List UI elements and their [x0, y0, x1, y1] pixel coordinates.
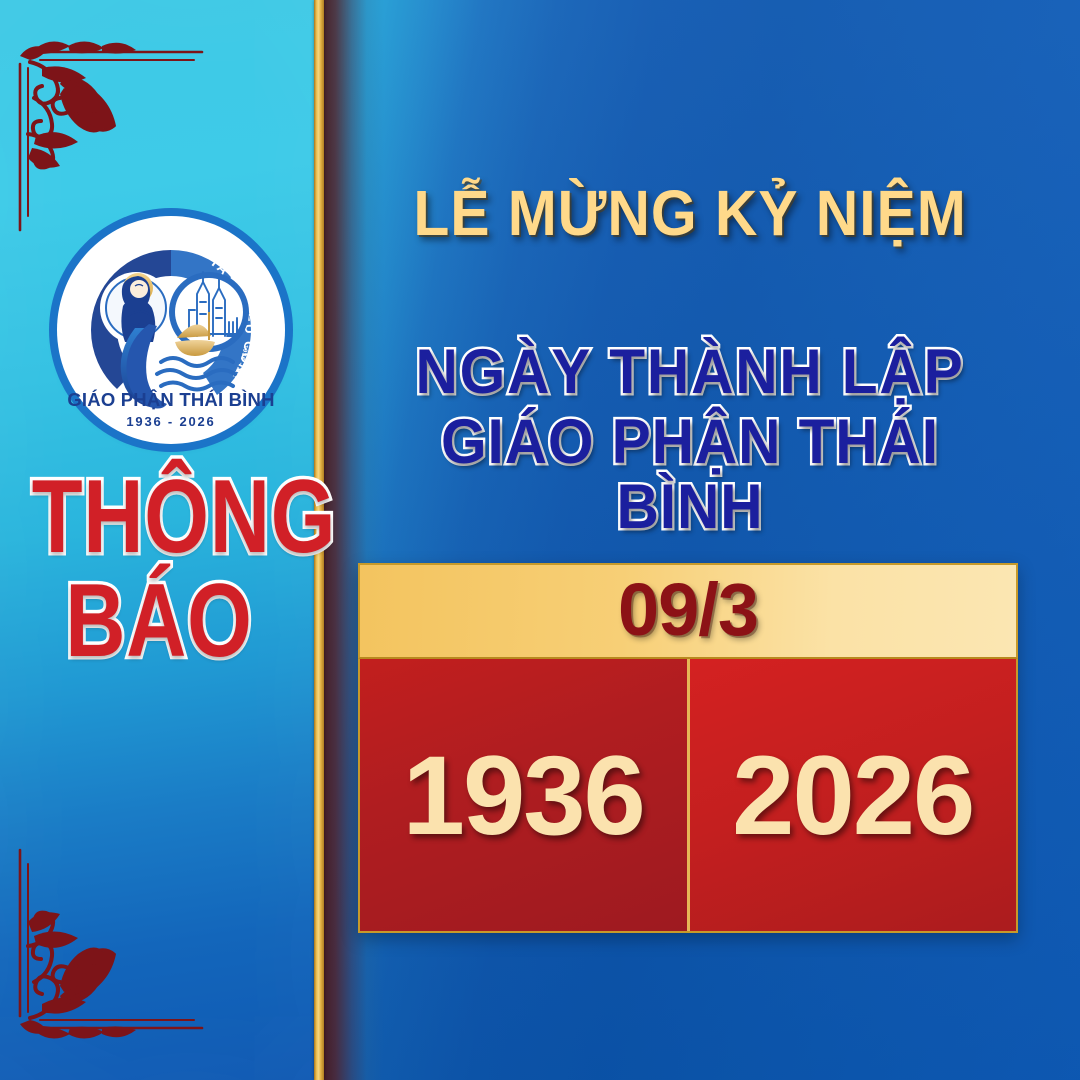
corner-flourish-ornament-bottom-left [6, 832, 216, 1062]
headline-blue-line-2: GIÁO PHẬN THÁI BÌNH [365, 410, 1016, 539]
date-card: 09/3 1936 2026 [358, 563, 1018, 933]
announcement-title: THÔNG BÁO [0, 470, 318, 669]
logo-years-range: 1936 - 2026 [126, 414, 215, 429]
year-to-text: 2026 [732, 731, 973, 860]
date-banner: 09/3 [358, 563, 1018, 659]
corner-flourish-ornament-top-left [6, 18, 216, 248]
announcement-line-2: BÁO [32, 574, 286, 670]
date-text: 09/3 [618, 567, 758, 652]
announcement-line-1: THÔNG [32, 470, 286, 566]
poster-canvas: NĂM THÁNH TA ĐÃ YÊU CON 1936 - 2026 [0, 0, 1080, 1080]
year-from-cell: 1936 [360, 659, 690, 931]
headline-blue-line-1: NGÀY THÀNH LẬP [365, 340, 1016, 404]
headline-gold: LỄ MỪNG KỶ NIỆM [368, 176, 1012, 250]
logo-diocese-name: GIÁO PHẬN THÁI BÌNH [67, 389, 274, 410]
headline-blue: NGÀY THÀNH LẬP GIÁO PHẬN THÁI BÌNH [340, 340, 1040, 539]
year-from-text: 1936 [403, 731, 644, 860]
diocese-logo: NĂM THÁNH TA ĐÃ YÊU CON 1936 - 2026 [57, 216, 285, 444]
year-to-cell: 2026 [690, 659, 1017, 931]
years-row: 1936 2026 [358, 659, 1018, 933]
logo-artwork: NĂM THÁNH TA ĐÃ YÊU CON 1936 - 2026 [57, 216, 285, 444]
